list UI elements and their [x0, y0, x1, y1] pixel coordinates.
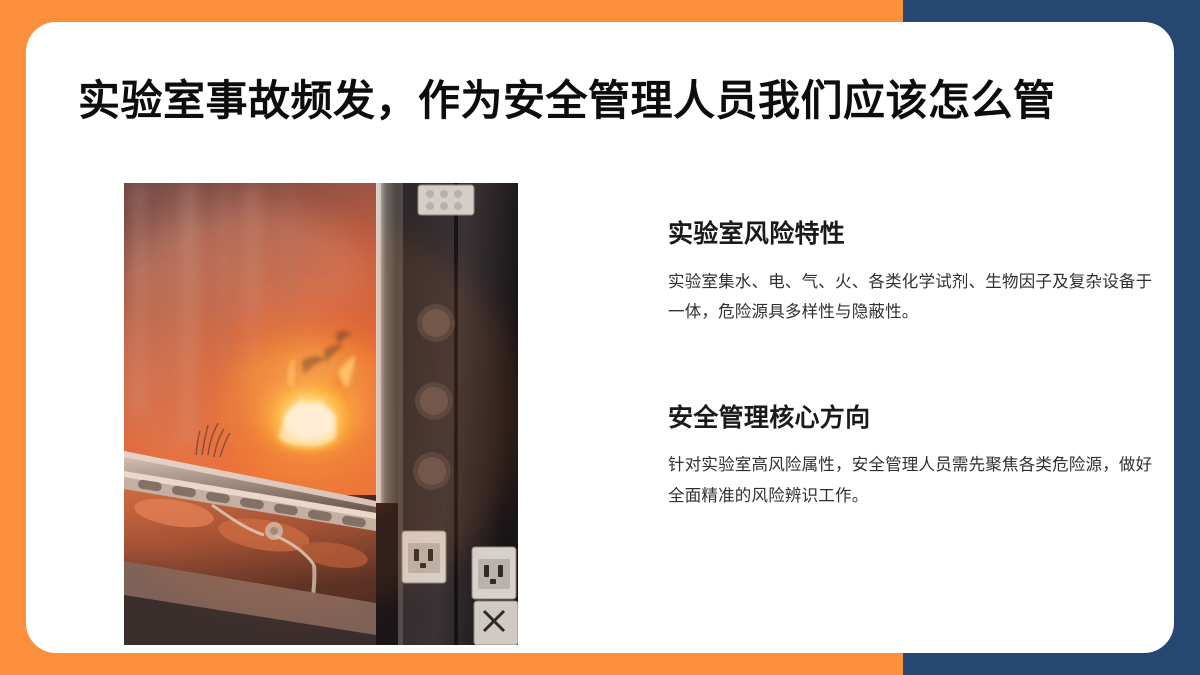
fire-photo-illustration: [124, 183, 518, 645]
content-block-heading: 安全管理核心方向: [668, 402, 1168, 435]
content-block: 实验室风险特性 实验室集水、电、气、火、各类化学试剂、生物因子及复杂设备于一体，…: [668, 218, 1168, 328]
content-block-heading: 实验室风险特性: [668, 218, 1168, 251]
slide-title: 实验室事故频发，作为安全管理人员我们应该怎么管: [78, 76, 1138, 126]
slide-root: 实验室事故频发，作为安全管理人员我们应该怎么管: [0, 0, 1200, 675]
content-block-body: 实验室集水、电、气、火、各类化学试剂、生物因子及复杂设备于一体，危险源具多样性与…: [668, 267, 1160, 328]
content-block-body: 针对实验室高风险属性，安全管理人员需先聚焦各类危险源，做好全面精准的风险辨识工作…: [668, 450, 1160, 511]
content-text-column: 实验室风险特性 实验室集水、电、气、火、各类化学试剂、生物因子及复杂设备于一体，…: [668, 218, 1168, 511]
fire-photo: [124, 183, 518, 645]
content-block: 安全管理核心方向 针对实验室高风险属性，安全管理人员需先聚焦各类危险源，做好全面…: [668, 402, 1168, 512]
slide-content-card: 实验室事故频发，作为安全管理人员我们应该怎么管: [26, 22, 1174, 653]
